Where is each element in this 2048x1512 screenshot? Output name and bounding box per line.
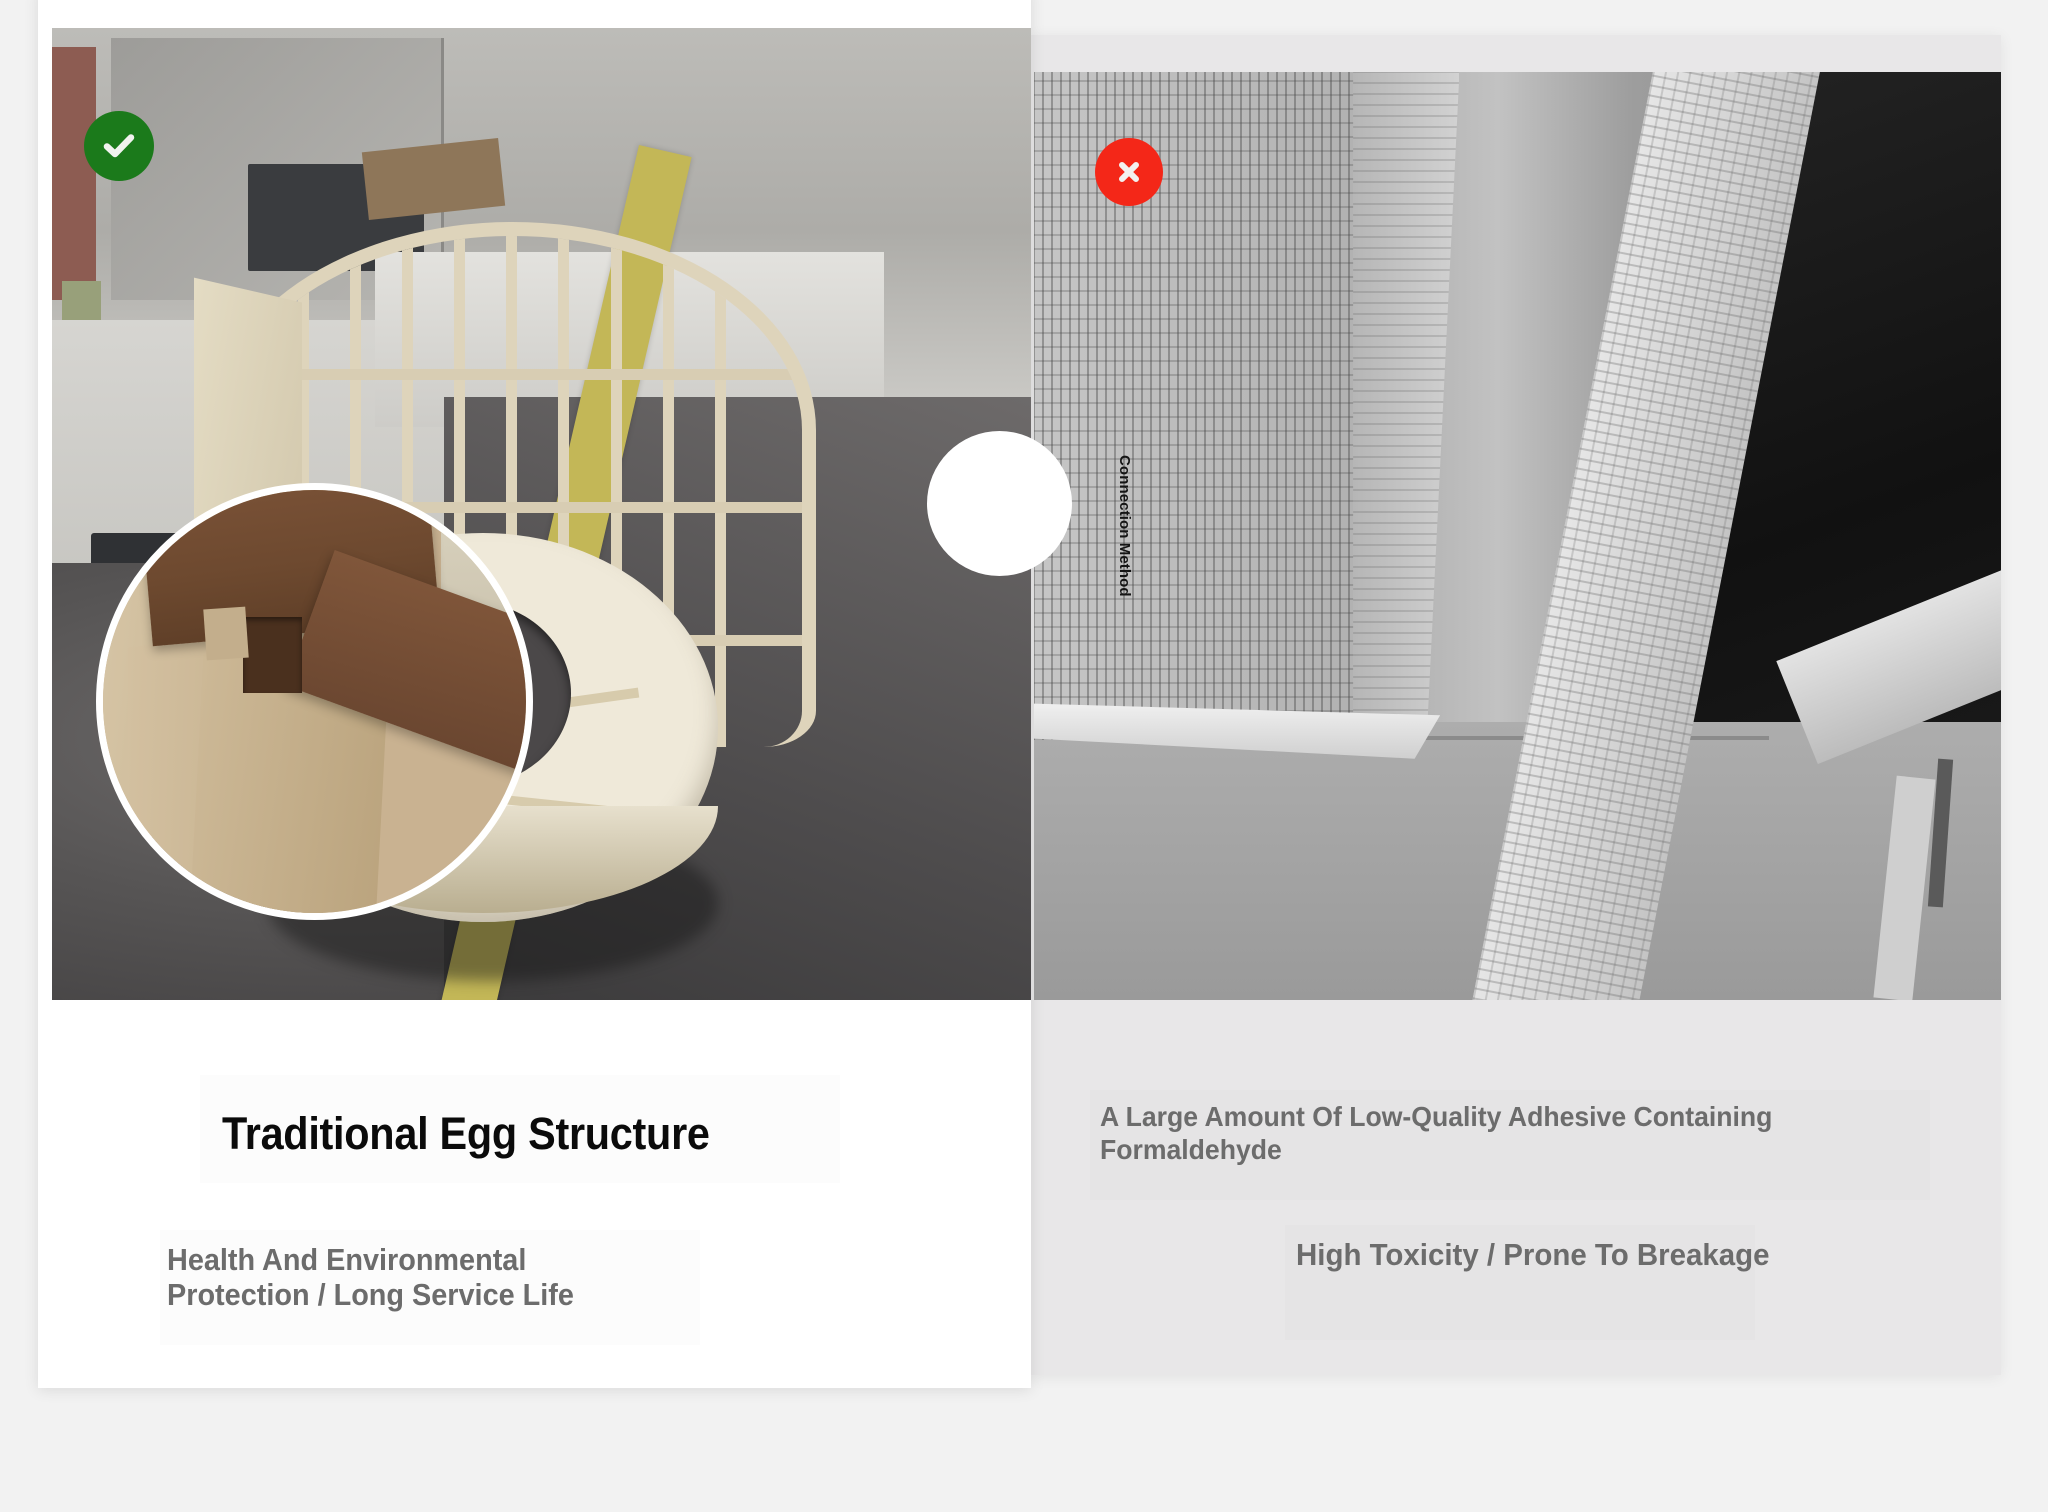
right-photo-canvas — [1034, 72, 2001, 1000]
timber-stack — [362, 138, 505, 220]
mortise-notch — [243, 617, 302, 693]
doorway-frame — [52, 47, 96, 300]
x-circle-icon — [1095, 138, 1163, 206]
comparison-figure: Connection Method Traditional Egg Struct… — [0, 0, 2048, 1512]
upright-textured-board — [1034, 72, 1382, 740]
lattice-rail — [223, 369, 802, 380]
connection-method-label: Connection Method — [1116, 455, 1133, 597]
check-circle-icon — [84, 111, 154, 181]
right-card-subtitle: High Toxicity / Prone To Breakage — [1296, 1238, 1790, 1273]
left-card-title: Traditional Egg Structure — [222, 1108, 792, 1160]
right-photo — [1034, 72, 2001, 1000]
circle-marker-icon — [927, 431, 1072, 576]
joint-detail-inset — [96, 483, 533, 920]
lattice-slat — [715, 236, 726, 747]
right-card-title: A Large Amount Of Low-Quality Adhesive C… — [1100, 1100, 1889, 1166]
left-card-subtitle: Health And Environmental Protection / Lo… — [167, 1243, 651, 1312]
tenon-tongue — [203, 607, 249, 661]
